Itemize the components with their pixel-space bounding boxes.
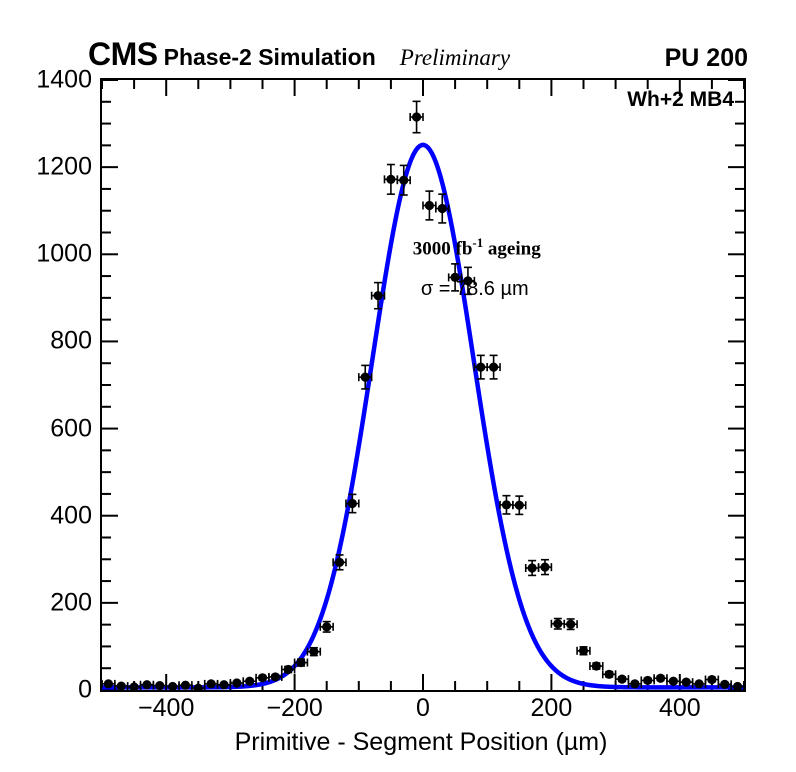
y-tick-label: 600 — [50, 414, 92, 443]
cms-preliminary-label: Preliminary — [400, 45, 510, 70]
pileup-label: PU 200 — [665, 44, 748, 73]
y-tick-label: 1400 — [36, 66, 92, 95]
y-tick-label: 800 — [50, 327, 92, 356]
plot-header: CMSPhase-2 SimulationPreliminary PU 200 — [88, 39, 748, 73]
x-tick-label: −200 — [266, 694, 322, 723]
ageing-exponent: -1 — [472, 235, 483, 250]
cms-header-left: CMSPhase-2 SimulationPreliminary — [88, 36, 510, 73]
plot-canvas: CMSPhase-2 SimulationPreliminary PU 200 … — [0, 0, 796, 772]
x-tick-label: 400 — [659, 694, 701, 723]
plot-graphics — [102, 80, 744, 690]
plot-frame: Wh+2 MB4 3000 fb-1 ageing σ = 78.6 µm — [100, 78, 746, 692]
ageing-value: 3000 fb — [413, 238, 473, 259]
y-axis-tick-labels: 0200400600800100012001400 — [0, 78, 92, 692]
sigma-label: σ = 78.6 µm — [421, 278, 529, 301]
x-axis-title: Primitive - Segment Position (µm) — [0, 728, 796, 757]
y-tick-label: 400 — [50, 501, 92, 530]
x-axis-tick-labels: −400−2000200400 — [100, 694, 746, 728]
x-tick-label: 200 — [531, 694, 573, 723]
cms-subtitle: Phase-2 Simulation — [164, 44, 376, 70]
ageing-label: 3000 fb-1 ageing — [413, 235, 541, 260]
y-tick-label: 200 — [50, 588, 92, 617]
y-tick-label: 1200 — [36, 153, 92, 182]
ageing-suffix: ageing — [483, 238, 541, 259]
region-label: Wh+2 MB4 — [627, 88, 734, 112]
x-tick-label: −400 — [138, 694, 194, 723]
y-tick-label: 1000 — [36, 240, 92, 269]
cms-logo: CMS — [88, 36, 158, 72]
y-tick-label: 0 — [78, 676, 92, 705]
x-tick-label: 0 — [416, 694, 430, 723]
data-points — [102, 101, 744, 690]
